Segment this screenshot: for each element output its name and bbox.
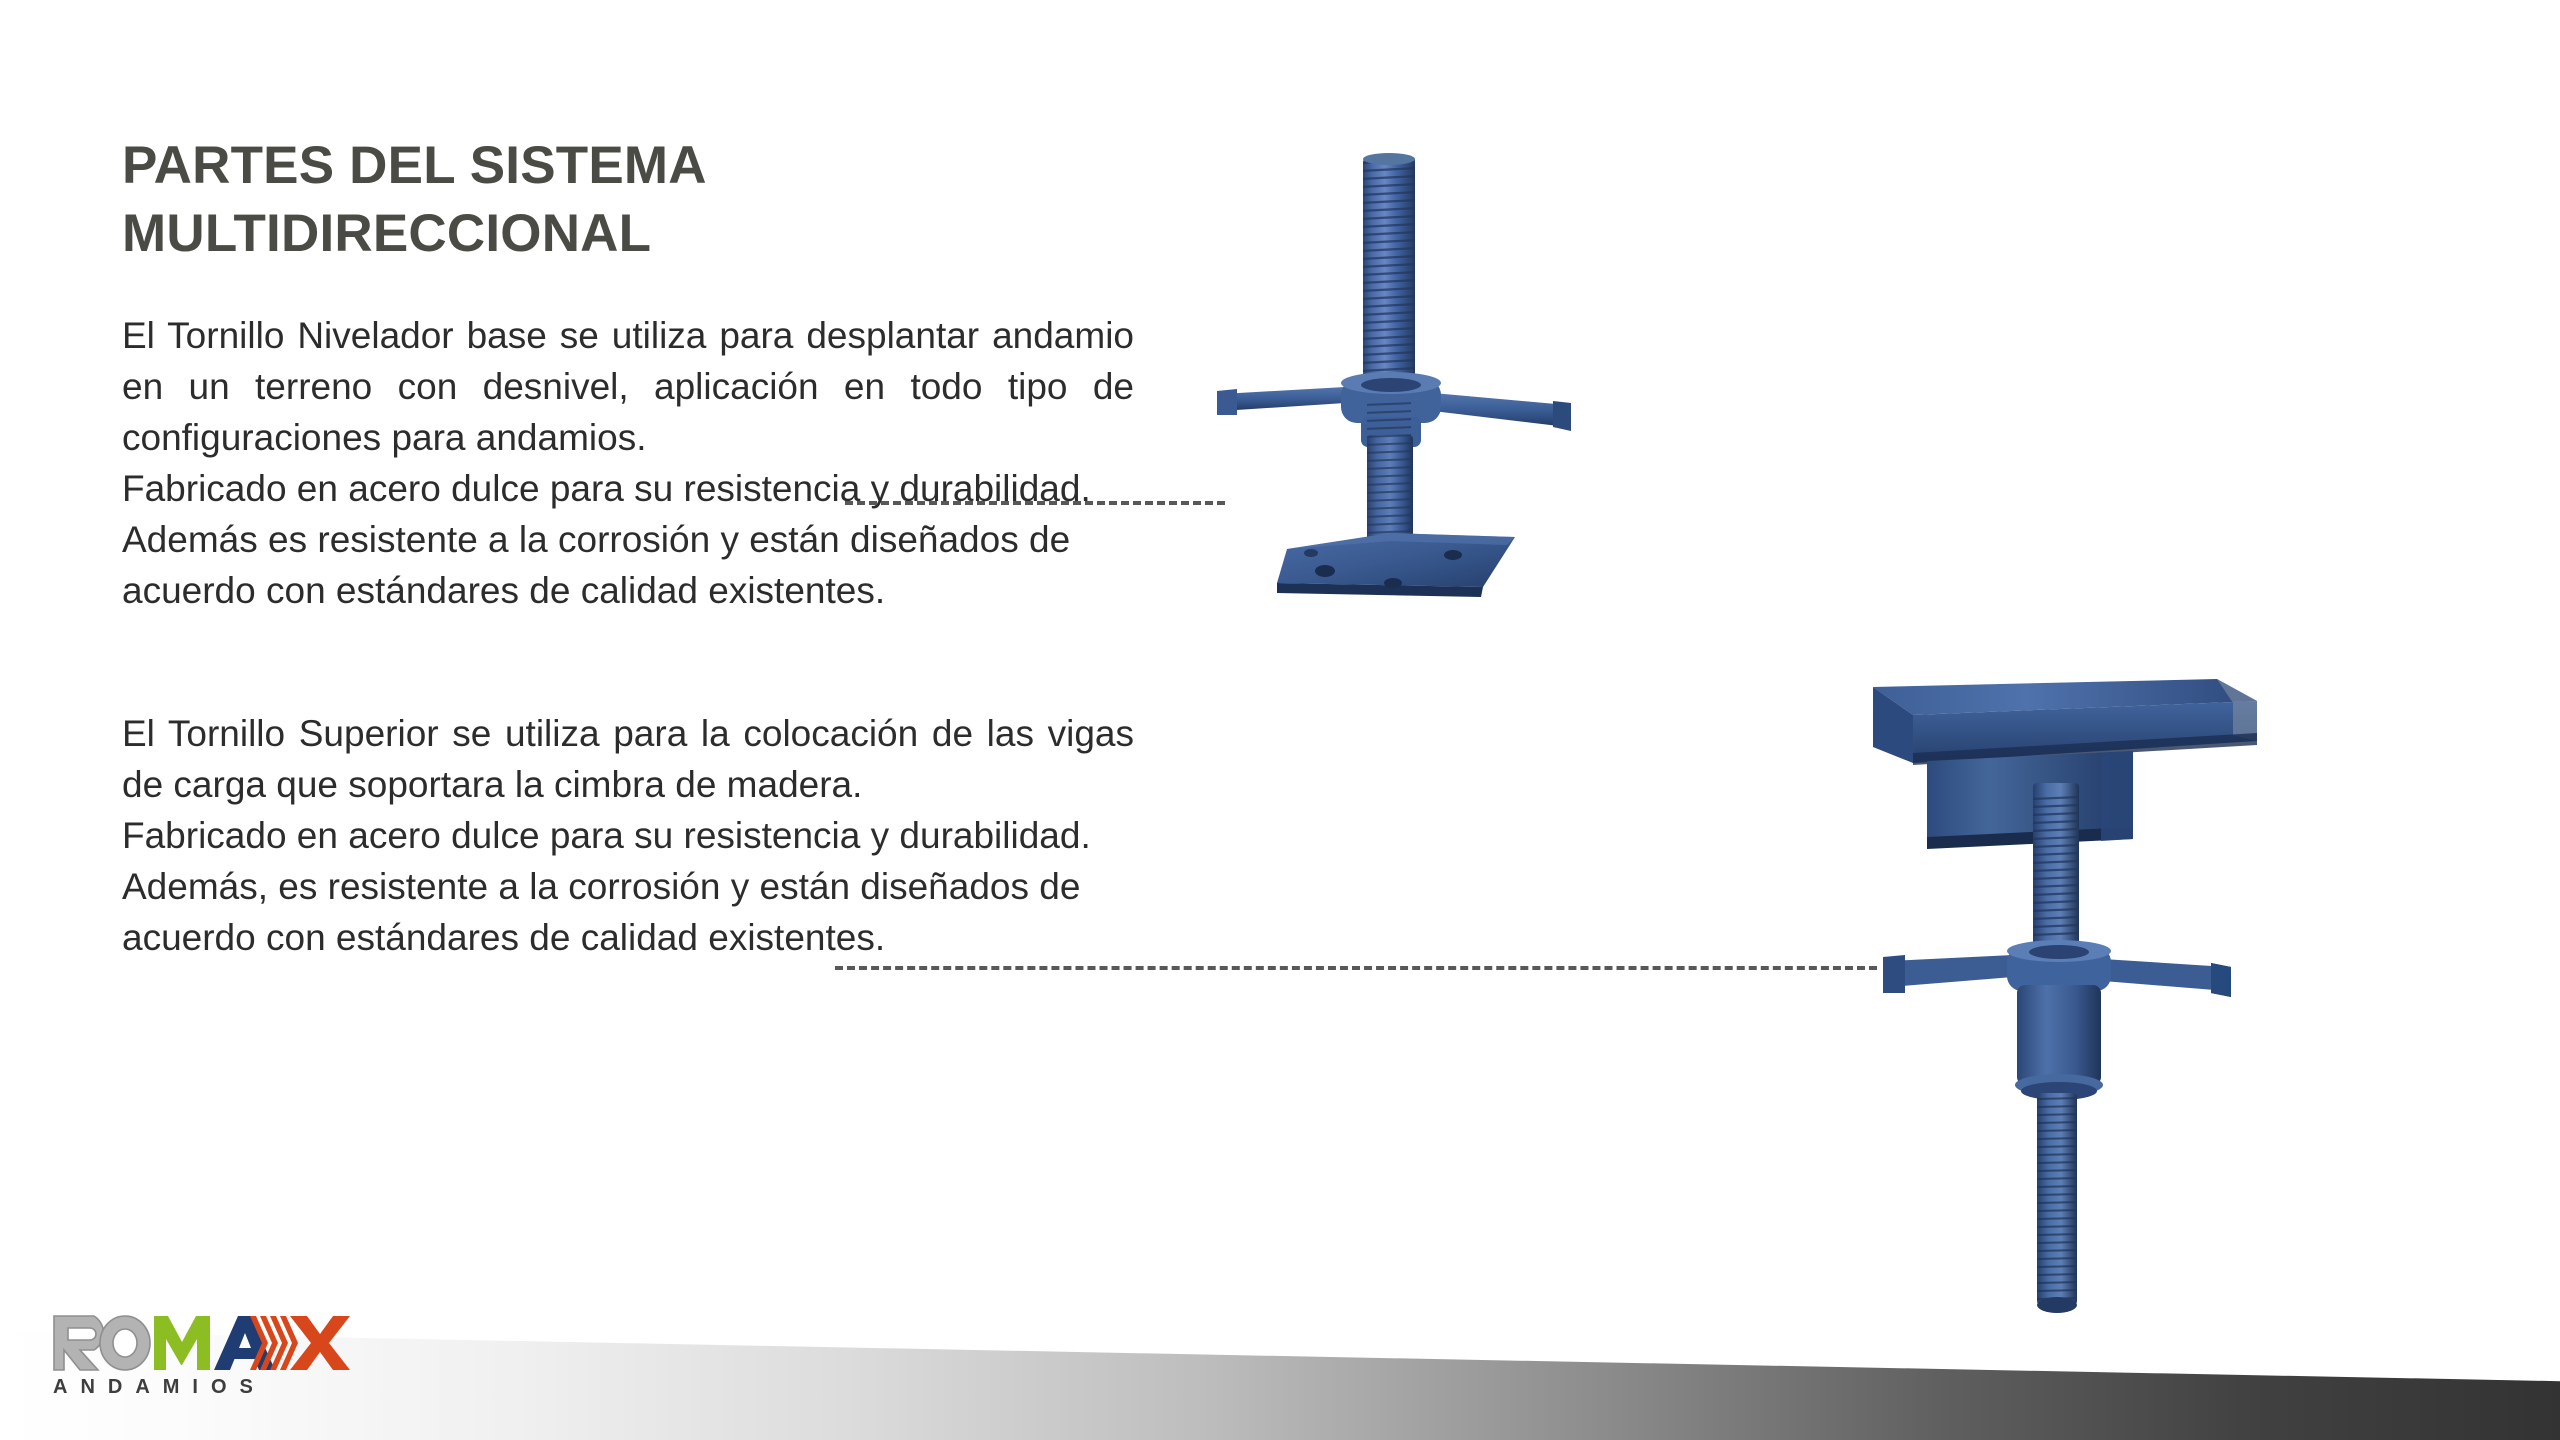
paragraph-tornillo-superior: El Tornillo Superior se utiliza para la … xyxy=(122,708,1134,963)
paragraph-tail-text: Fabricado en acero dulce para su resiste… xyxy=(122,810,1134,963)
text-column: PARTES DEL SISTEMA MULTIDIRECCIONAL El T… xyxy=(122,132,1134,963)
paragraph-tornillo-nivelador: El Tornillo Nivelador base se utiliza pa… xyxy=(122,310,1134,616)
photo-base-jack xyxy=(1215,135,1595,635)
leader-line-tornillo-superior xyxy=(835,966,1877,970)
paragraph-tail-text: Fabricado en acero dulce para su resiste… xyxy=(122,463,1134,616)
logo-tagline: ANDAMIOS xyxy=(53,1376,360,1399)
photo-top-jack xyxy=(1865,675,2265,1335)
paragraph-justified-text: El Tornillo Nivelador base se utiliza pa… xyxy=(122,315,1134,458)
brand-logo: ANDAMIOS xyxy=(50,1312,360,1404)
paragraph-text: El Tornillo Nivelador base se utiliza pa… xyxy=(122,310,1134,616)
page-title: PARTES DEL SISTEMA MULTIDIRECCIONAL xyxy=(122,132,1134,268)
logo-wordmark-romax xyxy=(50,1312,350,1374)
slide-canvas: PARTES DEL SISTEMA MULTIDIRECCIONAL El T… xyxy=(0,0,2560,1440)
paragraph-justified-text: El Tornillo Superior se utiliza para la … xyxy=(122,713,1134,805)
leader-line-tornillo-nivelador xyxy=(845,501,1225,505)
paragraph-text: El Tornillo Superior se utiliza para la … xyxy=(122,708,1134,963)
